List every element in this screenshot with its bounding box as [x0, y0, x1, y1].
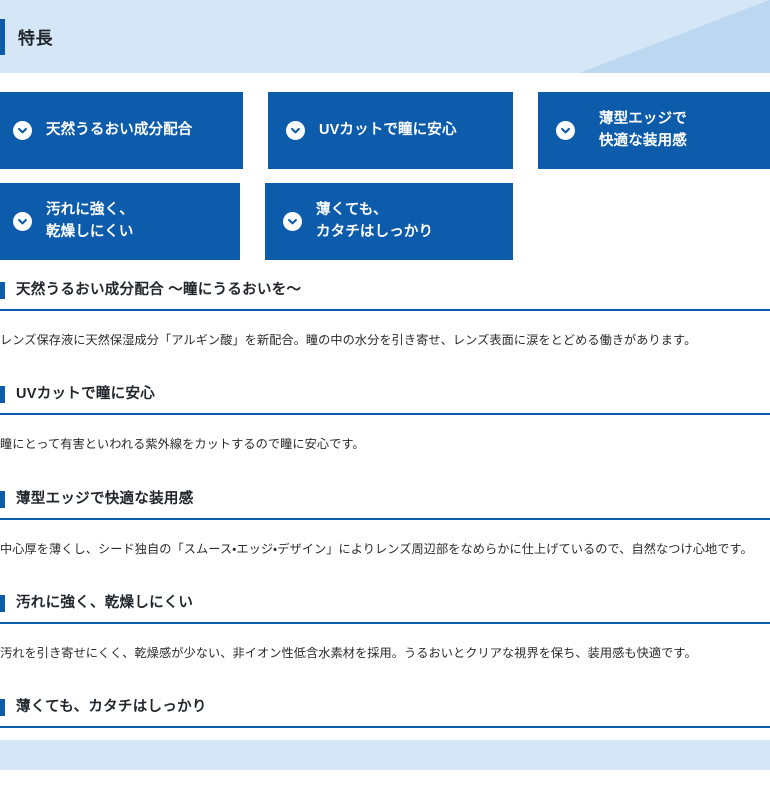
page-header: 特長	[0, 0, 770, 73]
section-accent-bar	[0, 491, 5, 508]
feature-button-label: 薄型エッジで 快適な装用感	[599, 109, 687, 151]
section-title: UVカットで瞳に安心	[16, 386, 155, 402]
feature-button-uv-cut[interactable]: UVカットで瞳に安心	[268, 92, 513, 169]
section-heading: 薄型エッジで快適な装用感	[0, 483, 770, 520]
section-heading: 薄くても、カタチはしっかり	[0, 691, 770, 728]
section-body: 中心厚を薄くし、シード独自の「スムース・エッジ・デザイン」によりレンズ周辺部をな…	[0, 520, 770, 584]
feature-button-row-2: 汚れに強く、 乾燥しにくい 薄くても、 カタチはしっかり	[0, 183, 770, 260]
section-accent-bar	[0, 699, 5, 716]
section-heading: UVカットで瞳に安心	[0, 378, 770, 415]
page-title: 特長	[18, 0, 53, 73]
chevron-down-circle-icon	[556, 121, 575, 140]
section-body: 汚れを引き寄せにくく、乾燥感が少ない、非イオン性低含水素材を採用。うるおいとクリ…	[0, 624, 770, 688]
section-uv-cut: UVカットで瞳に安心 瞳にとって有害といわれる紫外線をカットするので瞳に安心です…	[0, 378, 770, 478]
section-title: 汚れに強く、乾燥しにくい	[16, 595, 193, 611]
section-heading: 汚れに強く、乾燥しにくい	[0, 587, 770, 624]
feature-button-natural-moisture[interactable]: 天然うるおい成分配合	[0, 92, 243, 169]
feature-button-label: 汚れに強く、 乾燥しにくい	[46, 200, 134, 242]
feature-button-label: 薄くても、 カタチはしっかり	[316, 200, 433, 242]
footer-band	[0, 740, 770, 770]
section-stain-resistant: 汚れに強く、乾燥しにくい 汚れを引き寄せにくく、乾燥感が少ない、非イオン性低含水…	[0, 587, 770, 687]
section-thin-edge: 薄型エッジで快適な装用感 中心厚を薄くし、シード独自の「スムース・エッジ・デザイ…	[0, 483, 770, 583]
section-accent-bar	[0, 386, 5, 403]
feature-button-label: UVカットで瞳に安心	[319, 120, 457, 141]
feature-button-stain-resistant[interactable]: 汚れに強く、 乾燥しにくい	[0, 183, 240, 260]
chevron-down-circle-icon	[286, 121, 305, 140]
chevron-down-circle-icon	[13, 121, 32, 140]
feature-button-grid: 天然うるおい成分配合 UVカットで瞳に安心 薄型エッジで 快適な装用感	[0, 73, 770, 260]
header-diagonal-decoration	[580, 0, 770, 73]
header-accent-bar	[0, 19, 5, 55]
section-title: 天然うるおい成分配合 〜瞳にうるおいを〜	[16, 282, 301, 298]
feature-page: 特長 天然うるおい成分配合 UVカットで瞳に安心	[0, 0, 770, 770]
section-body: 瞳にとって有害といわれる紫外線をカットするので瞳に安心です。	[0, 415, 770, 479]
chevron-down-circle-icon	[283, 212, 302, 231]
feature-button-label: 天然うるおい成分配合	[46, 120, 192, 141]
section-title: 薄くても、カタチはしっかり	[16, 699, 207, 715]
section-accent-bar	[0, 595, 5, 612]
chevron-down-circle-icon	[13, 212, 32, 231]
section-natural-moisture: 天然うるおい成分配合 〜瞳にうるおいを〜 レンズ保存液に天然保湿成分「アルギン酸…	[0, 274, 770, 374]
feature-button-thin-edge[interactable]: 薄型エッジで 快適な装用感	[538, 92, 770, 169]
feature-button-shape-retention[interactable]: 薄くても、 カタチはしっかり	[265, 183, 513, 260]
feature-sections: 天然うるおい成分配合 〜瞳にうるおいを〜 レンズ保存液に天然保湿成分「アルギン酸…	[0, 274, 770, 792]
section-title: 薄型エッジで快適な装用感	[16, 491, 193, 507]
section-heading: 天然うるおい成分配合 〜瞳にうるおいを〜	[0, 274, 770, 311]
feature-button-row-1: 天然うるおい成分配合 UVカットで瞳に安心 薄型エッジで 快適な装用感	[0, 92, 770, 169]
section-accent-bar	[0, 282, 5, 299]
section-body: レンズ保存液に天然保湿成分「アルギン酸」を新配合。瞳の中の水分を引き寄せ、レンズ…	[0, 311, 770, 375]
